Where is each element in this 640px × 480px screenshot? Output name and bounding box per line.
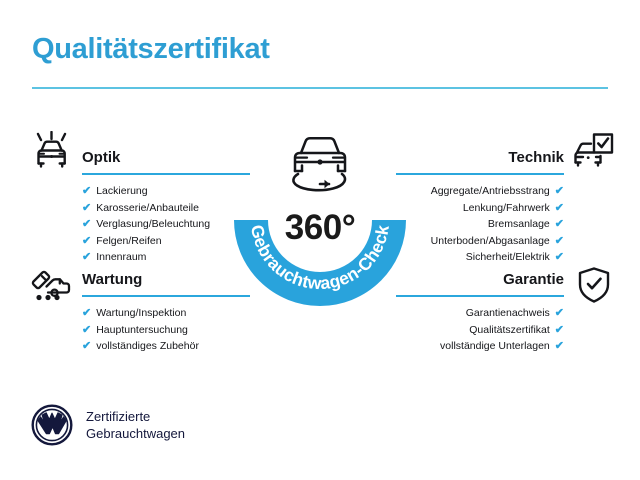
item-label: Hauptuntersuchung xyxy=(96,322,188,339)
section-title-technik: Technik xyxy=(396,148,564,168)
list-item: ✔ vollständiges Zubehör xyxy=(82,338,250,355)
check-icon: ✔ xyxy=(82,338,91,355)
list-item: Garantienachweis ✔ xyxy=(396,305,564,322)
item-label: vollständige Unterlagen xyxy=(440,338,550,355)
check-icon: ✔ xyxy=(82,249,91,266)
check-icon: ✔ xyxy=(82,216,91,233)
checklist-technik: Aggregate/Antriebsstrang ✔ Lenkung/Fahrw… xyxy=(396,183,564,266)
section-divider xyxy=(82,173,250,175)
check-icon: ✔ xyxy=(555,183,564,200)
list-item: ✔ Hauptuntersuchung xyxy=(82,322,250,339)
section-divider xyxy=(396,173,564,175)
check-icon: ✔ xyxy=(555,249,564,266)
item-label: Innenraum xyxy=(96,249,146,266)
check-icon: ✔ xyxy=(555,338,564,355)
section-header: Optik xyxy=(82,148,250,174)
section-garantie: Garantie Garantienachweis ✔ Qualitätszer… xyxy=(396,270,564,355)
title-divider xyxy=(32,87,608,89)
list-item: ✔ Karosserie/Anbauteile xyxy=(82,200,250,217)
item-label: Wartung/Inspektion xyxy=(96,305,186,322)
check-icon: ✔ xyxy=(555,233,564,250)
checklist-wartung: ✔ Wartung/Inspektion ✔ Hauptuntersuchung… xyxy=(82,305,250,355)
section-header: Garantie xyxy=(396,270,564,296)
list-item: Aggregate/Antriebsstrang ✔ xyxy=(396,183,564,200)
list-item: Bremsanlage ✔ xyxy=(396,216,564,233)
item-label: Felgen/Reifen xyxy=(96,233,161,250)
car-front-rotate-icon xyxy=(276,126,364,202)
check-icon: ✔ xyxy=(82,200,91,217)
badge-degrees-label: 360° xyxy=(226,208,414,248)
checklist-garantie: Garantienachweis ✔ Qualitätszertifikat ✔… xyxy=(396,305,564,355)
check-icon: ✔ xyxy=(555,305,564,322)
section-header: Wartung xyxy=(82,270,250,296)
section-wartung: Wartung ✔ Wartung/Inspektion ✔ Hauptunte… xyxy=(82,270,250,355)
list-item: ✔ Lackierung xyxy=(82,183,250,200)
checklist-optik: ✔ Lackierung ✔ Karosserie/Anbauteile ✔ V… xyxy=(82,183,250,266)
list-item: ✔ Wartung/Inspektion xyxy=(82,305,250,322)
item-label: Karosserie/Anbauteile xyxy=(96,200,199,217)
shield-check-icon xyxy=(574,264,614,311)
check-icon: ✔ xyxy=(82,322,91,339)
vw-lockup-text: Zertifizierte Gebrauchtwagen xyxy=(86,408,185,442)
check-icon: ✔ xyxy=(82,183,91,200)
item-label: Aggregate/Antriebsstrang xyxy=(431,183,550,200)
check-icon: ✔ xyxy=(555,200,564,217)
list-item: ✔ Innenraum xyxy=(82,249,250,266)
section-title-optik: Optik xyxy=(82,148,250,168)
section-divider xyxy=(396,295,564,297)
list-item: Qualitätszertifikat ✔ xyxy=(396,322,564,339)
item-label: vollständiges Zubehör xyxy=(96,338,199,355)
vw-lockup-line2: Gebrauchtwagen xyxy=(86,425,185,442)
section-title-wartung: Wartung xyxy=(82,270,250,290)
vw-lockup-line1: Zertifizierte xyxy=(86,408,185,425)
certificate-page: Qualitätszertifikat Op xyxy=(0,0,640,480)
item-label: Garantienachweis xyxy=(466,305,550,322)
item-label: Unterboden/Abgasanlage xyxy=(431,233,550,250)
check-icon: ✔ xyxy=(555,322,564,339)
check-icon: ✔ xyxy=(555,216,564,233)
car-checkbox-icon xyxy=(572,131,616,176)
check-icon: ✔ xyxy=(82,233,91,250)
list-item: Sicherheit/Elektrik ✔ xyxy=(396,249,564,266)
list-item: ✔ Verglasung/Beleuchtung xyxy=(82,216,250,233)
page-title: Qualitätszertifikat xyxy=(32,33,270,66)
section-header: Technik xyxy=(396,148,564,174)
car-front-shine-icon xyxy=(30,131,74,176)
item-label: Verglasung/Beleuchtung xyxy=(96,216,210,233)
section-title-garantie: Garantie xyxy=(396,270,564,290)
item-label: Lenkung/Fahrwerk xyxy=(463,200,550,217)
item-label: Bremsanlage xyxy=(488,216,550,233)
section-technik: Technik Aggregate/Antriebsstrang ✔ Lenku… xyxy=(396,148,564,266)
car-lift-wrench-icon xyxy=(28,264,76,311)
item-label: Sicherheit/Elektrik xyxy=(466,249,550,266)
section-divider xyxy=(82,295,250,297)
item-label: Qualitätszertifikat xyxy=(469,322,550,339)
list-item: vollständige Unterlagen ✔ xyxy=(396,338,564,355)
vw-logo-icon xyxy=(31,404,73,446)
vw-certified-lockup: Zertifizierte Gebrauchtwagen xyxy=(31,404,185,446)
list-item: Unterboden/Abgasanlage ✔ xyxy=(396,233,564,250)
badge-360-gebrauchtwagen-check: Gebrauchtwagen-Check 360° xyxy=(226,150,414,310)
item-label: Lackierung xyxy=(96,183,147,200)
list-item: ✔ Felgen/Reifen xyxy=(82,233,250,250)
check-icon: ✔ xyxy=(82,305,91,322)
list-item: Lenkung/Fahrwerk ✔ xyxy=(396,200,564,217)
section-optik: Optik ✔ Lackierung ✔ Karosserie/Anbautei… xyxy=(82,148,250,266)
